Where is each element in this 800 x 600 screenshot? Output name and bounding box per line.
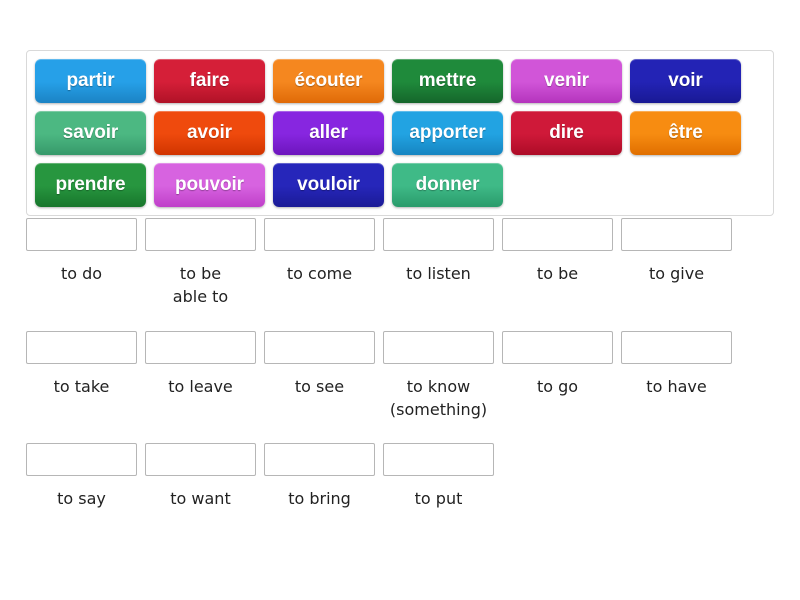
answer-drop-box[interactable] [145, 331, 256, 364]
answer-cell: to know (something) [383, 331, 494, 421]
answer-drop-box[interactable] [383, 218, 494, 251]
word-tile[interactable]: faire [154, 59, 265, 103]
answer-drop-box[interactable] [264, 331, 375, 364]
answer-drop-box[interactable] [26, 443, 137, 476]
word-tile[interactable]: aller [273, 111, 384, 155]
answer-label: to come [287, 262, 352, 285]
word-tile[interactable]: savoir [35, 111, 146, 155]
word-tile[interactable]: écouter [273, 59, 384, 103]
answer-label: to say [57, 487, 106, 510]
word-tile[interactable]: avoir [154, 111, 265, 155]
answer-label: to be [537, 262, 578, 285]
answer-label: to leave [168, 375, 233, 398]
answer-label: to be able to [173, 262, 228, 308]
word-tile[interactable]: donner [392, 163, 503, 207]
word-tile[interactable]: venir [511, 59, 622, 103]
answer-row: to doto be able toto cometo listento bet… [26, 218, 732, 308]
answer-cell: to take [26, 331, 137, 421]
answer-drop-box[interactable] [26, 218, 137, 251]
answer-drop-box[interactable] [621, 331, 732, 364]
answer-cell: to be able to [145, 218, 256, 308]
answer-drop-box[interactable] [383, 443, 494, 476]
word-bank-panel: partirfaireécoutermettrevenirvoirsavoira… [26, 50, 774, 216]
word-tile[interactable]: dire [511, 111, 622, 155]
answer-drop-box[interactable] [264, 218, 375, 251]
word-tile-grid: partirfaireécoutermettrevenirvoirsavoira… [35, 59, 766, 207]
answer-label: to bring [288, 487, 351, 510]
word-tile[interactable]: être [630, 111, 741, 155]
answer-label: to listen [406, 262, 471, 285]
answer-label: to do [61, 262, 102, 285]
answer-drop-box[interactable] [26, 331, 137, 364]
answer-cell: to do [26, 218, 137, 308]
answer-cell: to put [383, 443, 494, 510]
word-tile[interactable]: pouvoir [154, 163, 265, 207]
answer-cell: to see [264, 331, 375, 421]
answer-label: to give [649, 262, 704, 285]
answer-drop-box[interactable] [383, 331, 494, 364]
answer-drop-box[interactable] [145, 443, 256, 476]
answer-label: to put [415, 487, 463, 510]
answer-area: to doto be able toto cometo listento bet… [26, 218, 774, 538]
answer-label: to see [295, 375, 344, 398]
answer-row: to sayto wantto bringto put [26, 443, 494, 510]
answer-cell: to come [264, 218, 375, 308]
answer-cell: to give [621, 218, 732, 308]
word-tile[interactable]: voir [630, 59, 741, 103]
answer-label: to know (something) [390, 375, 487, 421]
answer-cell: to go [502, 331, 613, 421]
answer-drop-box[interactable] [502, 218, 613, 251]
word-tile[interactable]: prendre [35, 163, 146, 207]
answer-cell: to be [502, 218, 613, 308]
word-tile[interactable]: partir [35, 59, 146, 103]
word-tile[interactable]: vouloir [273, 163, 384, 207]
word-tile[interactable]: mettre [392, 59, 503, 103]
answer-label: to go [537, 375, 578, 398]
answer-cell: to want [145, 443, 256, 510]
answer-label: to take [54, 375, 110, 398]
answer-cell: to leave [145, 331, 256, 421]
answer-label: to have [646, 375, 706, 398]
answer-cell: to bring [264, 443, 375, 510]
answer-cell: to listen [383, 218, 494, 308]
answer-cell: to have [621, 331, 732, 421]
answer-cell: to say [26, 443, 137, 510]
match-up-activity: partirfaireécoutermettrevenirvoirsavoira… [0, 0, 800, 600]
answer-label: to want [170, 487, 230, 510]
answer-drop-box[interactable] [264, 443, 375, 476]
answer-drop-box[interactable] [621, 218, 732, 251]
word-tile[interactable]: apporter [392, 111, 503, 155]
answer-drop-box[interactable] [502, 331, 613, 364]
answer-drop-box[interactable] [145, 218, 256, 251]
answer-row: to taketo leaveto seeto know (something)… [26, 331, 732, 421]
